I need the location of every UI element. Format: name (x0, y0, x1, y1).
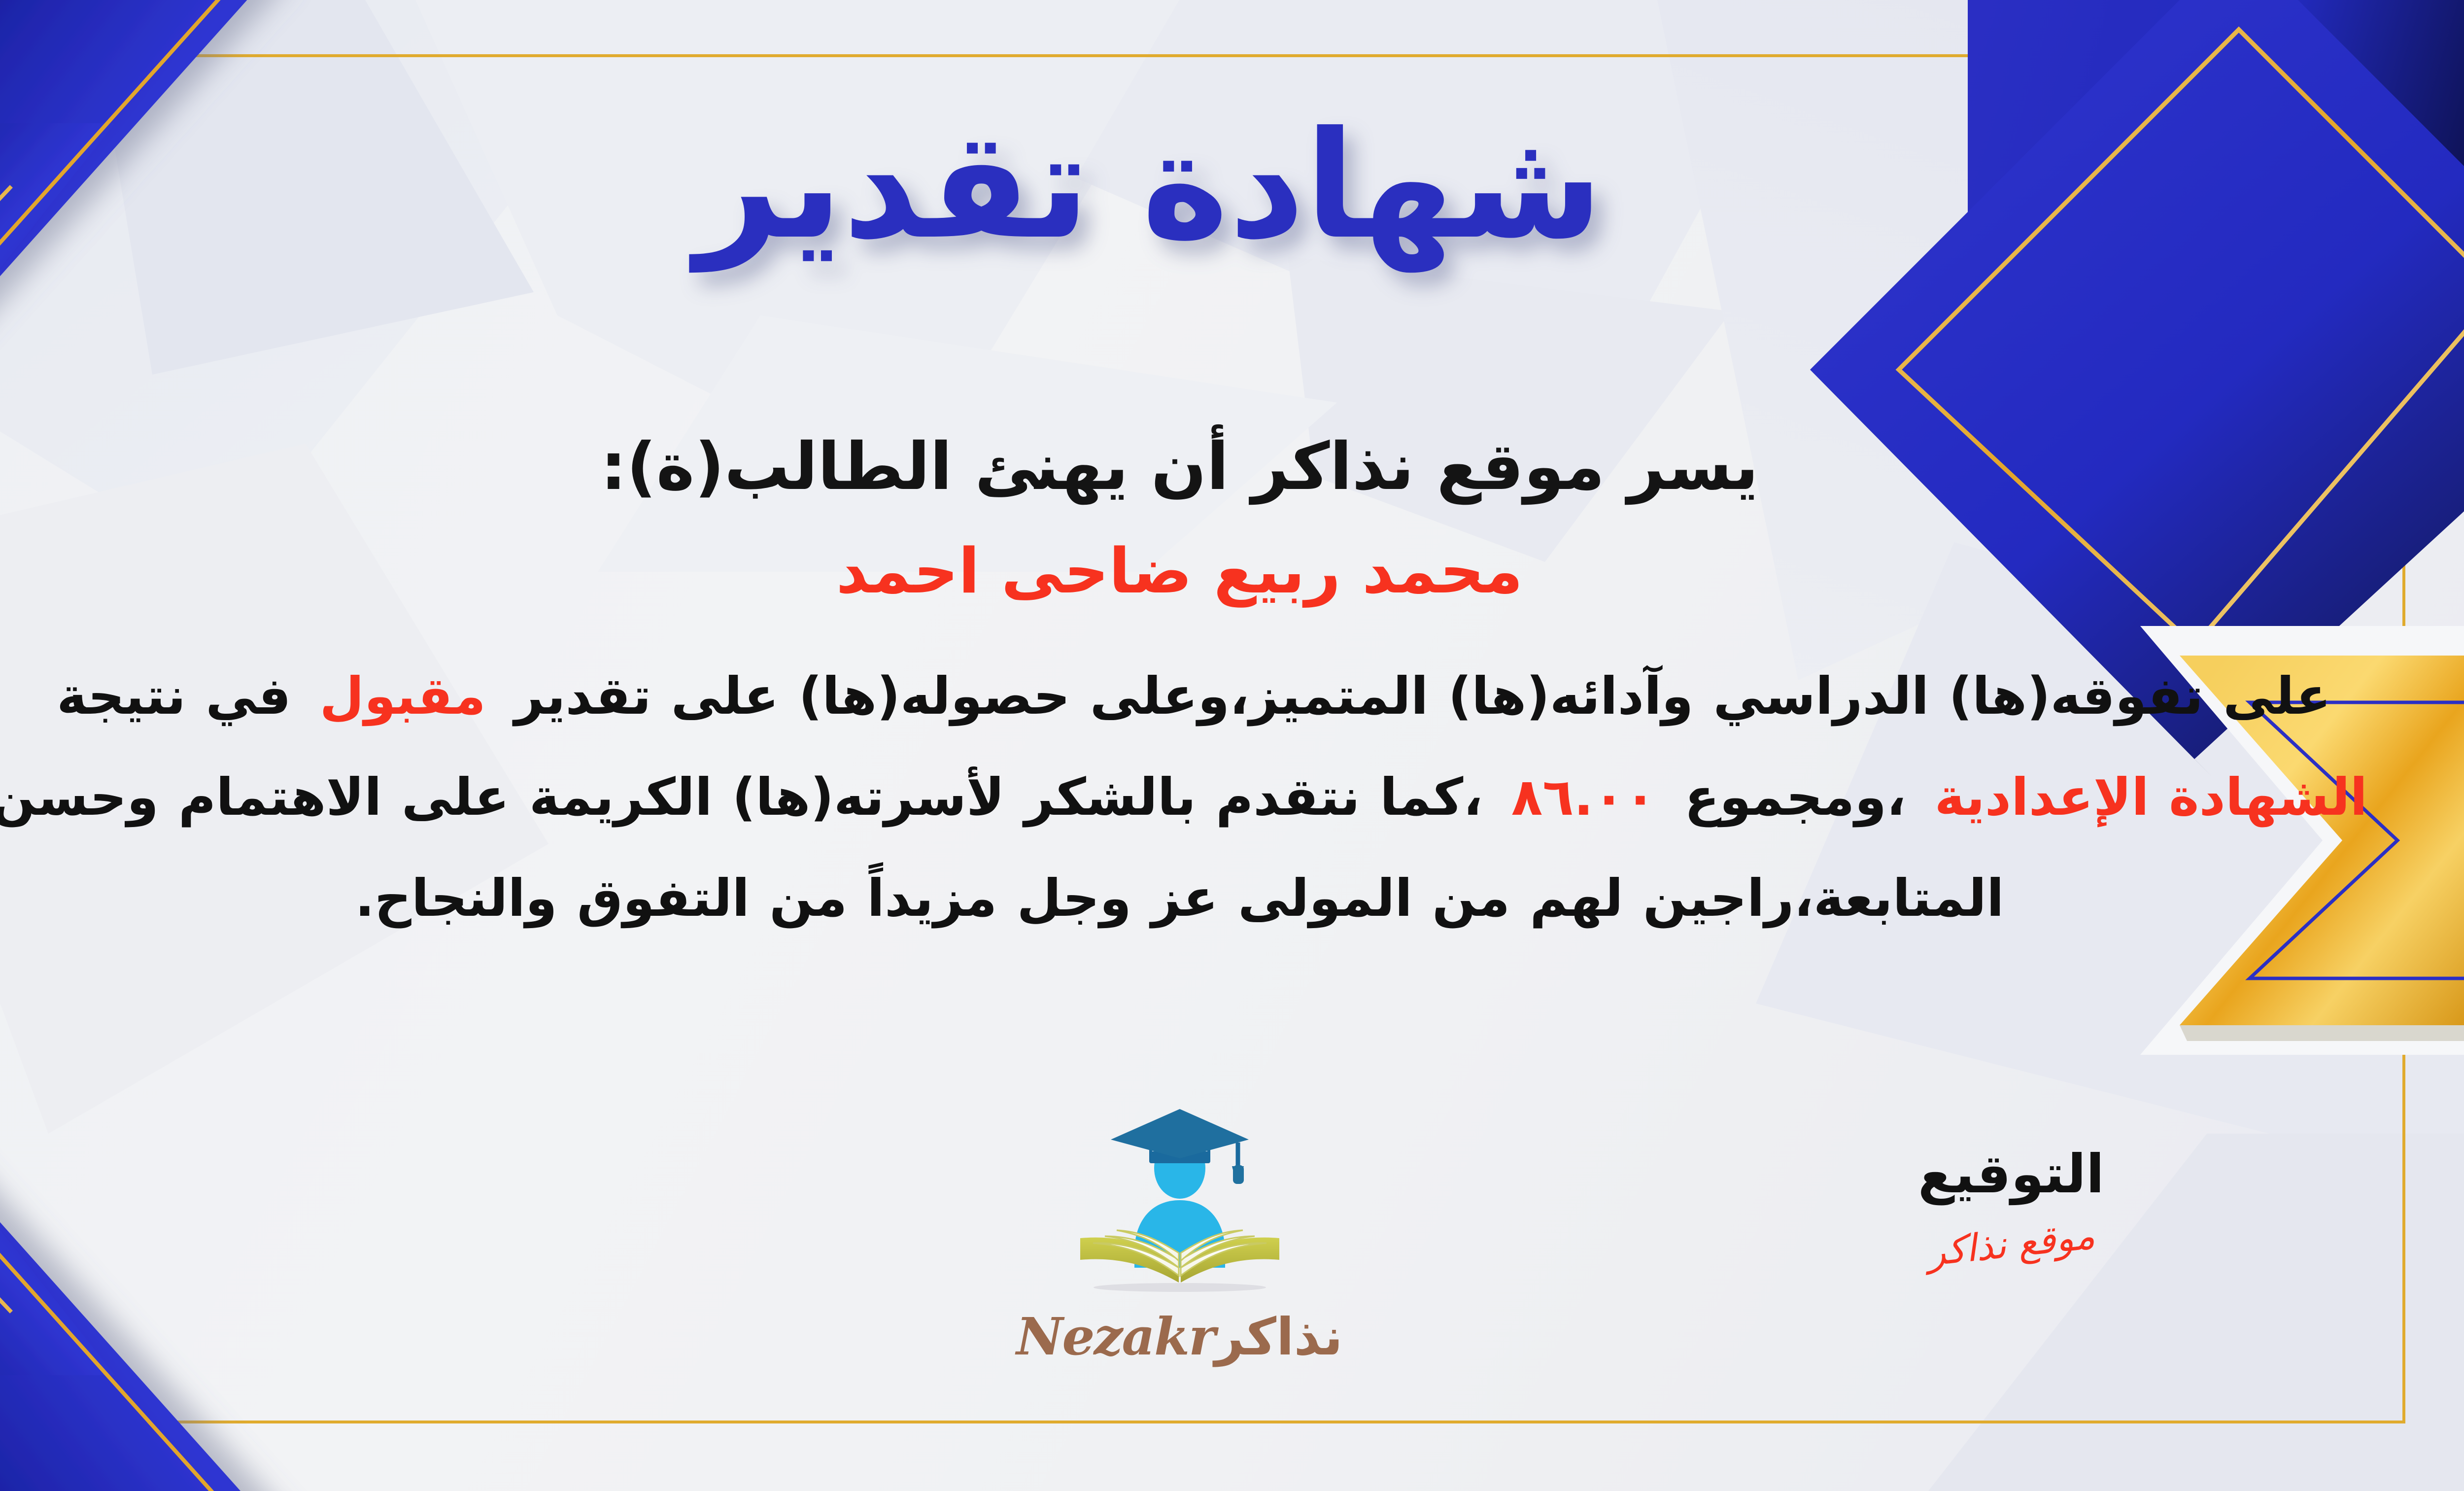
student-name: محمد ربيع ضاحى احمد (0, 535, 2405, 607)
logo-graphic (1052, 1094, 1308, 1301)
nezakr-logo: Nezakrنذاكر (0, 1094, 2405, 1367)
certificate-content: يسر موقع نذاكر أن يهنئ الطالب(ة): محمد ر… (0, 54, 2405, 1423)
grade-value: مقبول (320, 666, 486, 726)
greeting-line: يسر موقع نذاكر أن يهنئ الطالب(ة): (0, 429, 2405, 505)
certificate-body-paragraph: على تفوقه(ها) الدراسي وآدائه(ها) المتميز… (0, 646, 2371, 949)
logo-name-latin: Nezakr (1016, 1306, 1215, 1367)
body-segment-3: ،ومجموع (1684, 767, 1906, 827)
exam-name: الشهادة الإعدادية (1935, 767, 2368, 827)
body-segment-1: على تفوقه(ها) الدراسي وآدائه(ها) المتميز… (514, 666, 2331, 726)
logo-name-arabic: نذاكر (1215, 1307, 1343, 1367)
certificate-page: شهادة تقدير يسر موقع نذاكر أن يهنئ الطال… (0, 0, 2464, 1491)
logo-wordmark: Nezakrنذاكر (1016, 1306, 1342, 1367)
total-score: ٨٦.٠٠ (1511, 767, 1656, 827)
body-segment-2: في نتيجة (57, 666, 291, 726)
